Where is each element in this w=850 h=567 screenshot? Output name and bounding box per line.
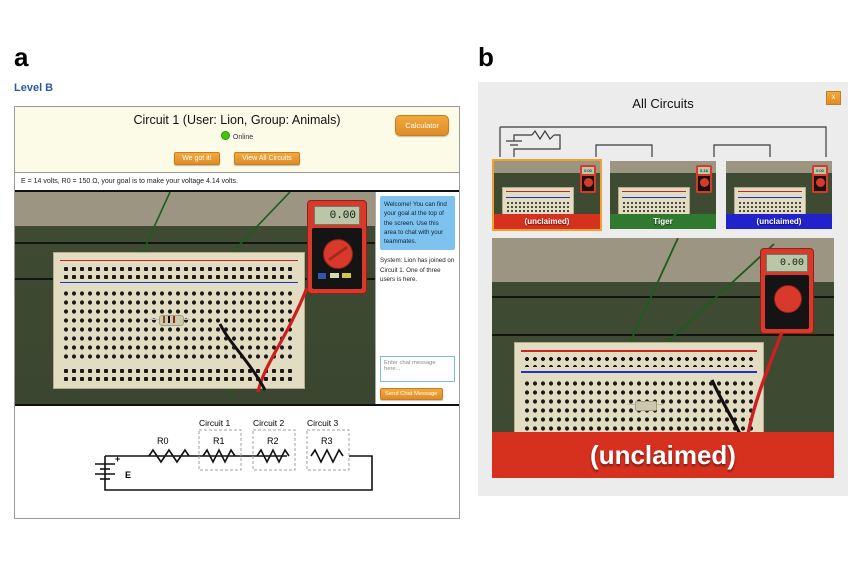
view-all-circuits-button[interactable]: View All Circuits [234, 152, 300, 165]
panel-a: a Level B Circuit 1 (User: Lion, Group: … [14, 44, 460, 519]
app-header: Circuit 1 (User: Lion, Group: Animals) O… [15, 107, 459, 173]
resistor-label-0: R1 [213, 436, 225, 446]
online-dot-icon [221, 131, 230, 140]
resistor-label-2: R3 [321, 436, 333, 446]
battery-label: E [125, 470, 131, 480]
test-leads [15, 192, 377, 404]
chat-input[interactable]: Enter chat message here... [380, 356, 455, 382]
battery-plus-label: + [115, 454, 120, 464]
thumbnail-label-2: (unclaimed) [726, 214, 832, 229]
thumb-2-reading: 0.00 [814, 167, 826, 174]
online-status-label: Online [233, 134, 253, 141]
thumb-1-reading: 5.16 [698, 167, 710, 174]
chat-panel: Welcome! You can find your goal at the t… [375, 192, 459, 404]
circuit-scene: 0.00 Welcome! You can find your goal at … [15, 192, 459, 404]
all-circuits-title: All Circuits [492, 96, 834, 111]
section-title-1: Circuit 2 [253, 418, 284, 428]
send-chat-message-button[interactable]: Send Chat Message [380, 388, 443, 400]
chat-welcome-message: Welcome! You can find your goal at the t… [380, 196, 455, 250]
r0-label: R0 [157, 436, 169, 446]
panel-a-letter: a [14, 44, 460, 70]
resistor-label-1: R2 [267, 436, 279, 446]
calculator-button[interactable]: Calculator [395, 115, 449, 136]
circuit-schematic: + E R0 Circuit 1 Circuit 2 Circuit 3 R1 [15, 404, 459, 518]
all-circuits-window: x All Circuits [478, 82, 848, 496]
claim-banner[interactable]: (unclaimed) [492, 432, 834, 478]
we-got-it-button[interactable]: We got it! [174, 152, 219, 165]
thumbnail-label-0: (unclaimed) [494, 214, 600, 229]
online-status: Online [15, 131, 459, 141]
circuit-thumbnails: 0.00 (unclaimed) 5.16 Tiger [492, 159, 834, 231]
page-title: Circuit 1 (User: Lion, Group: Animals) [15, 113, 459, 127]
section-title-2: Circuit 3 [307, 418, 338, 428]
chat-system-message: System: Lion has joined on Circuit 1. On… [380, 256, 455, 284]
header-buttons: We got it! View All Circuits [15, 147, 459, 165]
selected-circuit-view[interactable]: 0.00 (unclaimed) [492, 238, 834, 478]
level-label: Level B [14, 82, 460, 94]
thumbnail-circuit-1[interactable]: 0.00 (unclaimed) [492, 159, 602, 231]
schematic-svg: + E R0 Circuit 1 Circuit 2 Circuit 3 R1 [87, 412, 387, 508]
goal-text: E = 14 volts, R0 = 150 Ω, your goal is t… [15, 173, 459, 192]
close-icon[interactable]: x [826, 91, 841, 105]
thumbnail-circuit-2[interactable]: 5.16 Tiger [608, 159, 718, 231]
panel-b: b x All Circuits [478, 44, 850, 496]
circuit-app-window: Circuit 1 (User: Lion, Group: Animals) O… [14, 106, 460, 519]
thumb-0-reading: 0.00 [582, 167, 594, 174]
thumbnail-label-1: Tiger [610, 214, 716, 229]
panel-b-letter: b [478, 44, 850, 70]
thumbnail-circuit-3[interactable]: 0.00 (unclaimed) [724, 159, 834, 231]
section-title-0: Circuit 1 [199, 418, 230, 428]
linking-schematic [492, 119, 834, 159]
